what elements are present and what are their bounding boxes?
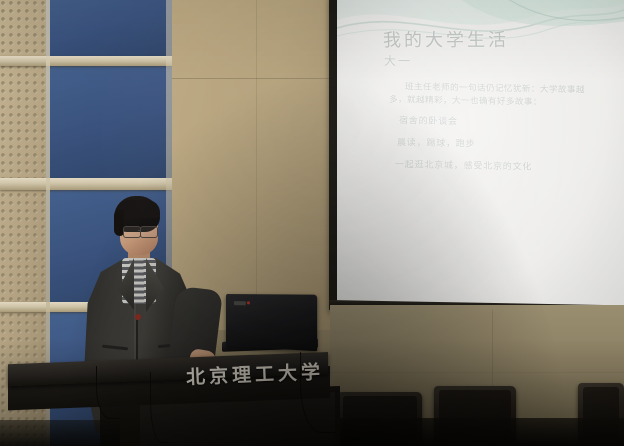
wall-seam-horizontal-right — [330, 372, 624, 373]
glasses-right-lens-icon — [140, 226, 158, 238]
slide-title: 我的大学生活 — [383, 26, 510, 52]
laptop-brand-logo-icon — [234, 301, 246, 305]
laptop-logo-red-dot-icon — [247, 301, 250, 304]
wall-seam-vertical — [256, 0, 257, 330]
glasses-bridge-icon — [138, 230, 141, 231]
projection-screen: 我的大学生活 大一 班主任老师的一句话仍记忆犹新：大学故事越多，就越精彩，大一也… — [337, 0, 624, 311]
slide-bullet-1: 宿舍的卧谈会 — [399, 113, 458, 127]
blue-panel-2 — [44, 66, 172, 178]
glasses-left-lens-icon — [123, 226, 141, 238]
blue-panel-1 — [44, 0, 172, 56]
slide-paragraph: 班主任老师的一句话仍记忆犹新：大学故事越多，就越精彩，大一也确有好多故事： — [389, 81, 585, 111]
slide-subtitle: 大一 — [384, 52, 412, 70]
lecture-hall-photo: 我的大学生活 大一 班主任老师的一句话仍记忆犹新：大学故事越多，就越精彩，大一也… — [0, 0, 624, 446]
slide-bullet-2: 晨读，踢球，跑步 — [397, 135, 475, 149]
foreground-shadow-band — [330, 418, 624, 446]
wall-trim-1 — [0, 56, 172, 66]
slide-bullet-3: 一起逛北京城，感受北京的文化 — [395, 157, 532, 173]
wall-seam-horizontal — [170, 78, 340, 79]
slide-content: 我的大学生活 大一 班主任老师的一句话仍记忆犹新：大学故事越多，就越精彩，大一也… — [337, 0, 624, 311]
wall-trim-2 — [0, 178, 172, 190]
laptop-lid[interactable] — [226, 294, 317, 351]
foreground-floor-shadow — [0, 420, 120, 446]
